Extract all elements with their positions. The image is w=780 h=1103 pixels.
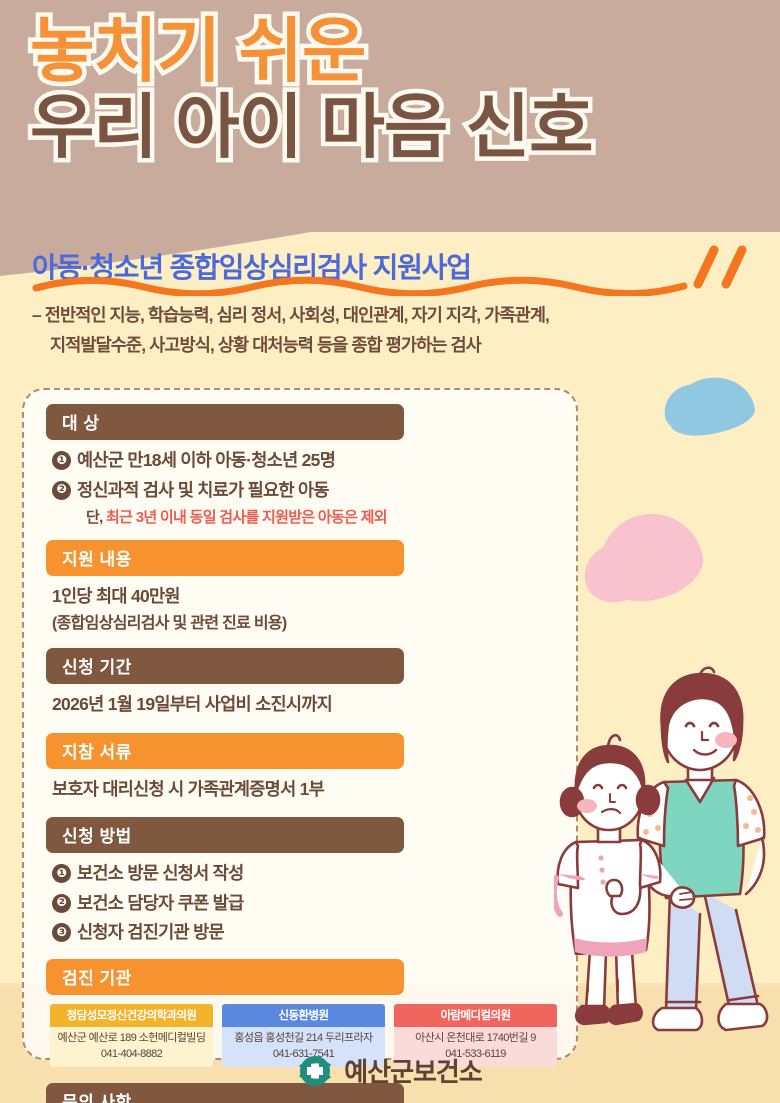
mother-and-child-illustration: [554, 662, 780, 1054]
bullet-number-1-icon: ❶: [52, 451, 71, 470]
target-note-prefix: 단,: [86, 509, 106, 526]
section-documents: 지참 서류 보호자 대리신청 시 가족관계증명서 1부: [46, 733, 558, 804]
support-line-2: (종합임상심리검사 및 관련 진료 비용): [52, 611, 558, 636]
section-method: 신청 방법 ❶ 보건소 방문 신청서 작성 ❷ 보건소 담당자 쿠폰 발급 ❸ …: [46, 817, 558, 947]
method-item-1: ❶ 보건소 방문 신청서 작성: [52, 860, 558, 888]
section-documents-title: 지참 서류: [46, 733, 404, 769]
method-item-3: ❸ 신청자 검진기관 방문: [52, 919, 558, 947]
section-support: 지원 내용 1인당 최대 40만원 (종합임상심리검사 및 관련 진료 비용): [46, 540, 558, 636]
section-target-title: 대 상: [46, 404, 404, 440]
institution-1-name: 청담성모정신건강의학과의원: [50, 1004, 213, 1027]
footer-org-name: 예산군보건소: [344, 1052, 482, 1089]
health-center-emblem-icon: [298, 1054, 332, 1088]
method-item-2: ❷ 보건소 담당자 쿠폰 발급: [52, 890, 558, 918]
institution-3-address: 아산시 온천대로 1740번길 9: [397, 1031, 554, 1047]
institution-2-name: 신동환병원: [222, 1004, 385, 1027]
headline-line-1: 놓치기 쉬운: [30, 16, 780, 86]
bullet-number-3-icon: ❸: [52, 923, 71, 942]
section-period: 신청 기간 2026년 1월 19일부터 사업비 소진시까지: [46, 648, 558, 719]
subtitle-block: 아동·청소년 종합임상심리검사 지원사업: [32, 246, 752, 286]
method-item-3-text: 신청자 검진기관 방문: [77, 919, 224, 947]
section-method-title: 신청 방법: [46, 817, 404, 853]
bullet-number-1-icon: ❶: [52, 864, 71, 883]
method-item-2-text: 보건소 담당자 쿠폰 발급: [77, 890, 244, 918]
description-line-1: – 전반적인 지능, 학습능력, 심리 정서, 사회성, 대인관계, 자기 지각…: [32, 305, 549, 325]
footer-logo-block: 예산군보건소: [0, 1052, 780, 1089]
section-institutions-title: 검진 기관: [46, 959, 404, 995]
target-item-1-text: 예산군 만18세 이하 아동·청소년 25명: [77, 447, 335, 475]
institution-1-address: 예산군 예산로 189 소헌메디컬빌딩: [53, 1031, 210, 1047]
method-item-1-text: 보건소 방문 신청서 작성: [77, 860, 244, 888]
bullet-number-2-icon: ❷: [52, 481, 71, 500]
section-target: 대 상 ❶ 예산군 만18세 이하 아동·청소년 25명 ❷ 정신과적 검사 및…: [46, 404, 558, 530]
institution-2-address: 홍성읍 홍성천길 214 두리프라자: [225, 1031, 382, 1047]
description-block: – 전반적인 지능, 학습능력, 심리 정서, 사회성, 대인관계, 자기 지각…: [32, 300, 748, 360]
target-item-2: ❷ 정신과적 검사 및 치료가 필요한 아동: [52, 477, 558, 505]
bullet-number-2-icon: ❷: [52, 894, 71, 913]
institution-3-name: 아람메디컬의원: [394, 1004, 557, 1027]
period-text: 2026년 1월 19일부터 사업비 소진시까지: [46, 691, 558, 719]
section-support-title: 지원 내용: [46, 540, 404, 576]
target-note: 단, 최근 3년 이내 동일 검사를 지원받은 아동은 제외: [52, 506, 558, 530]
info-card: 대 상 ❶ 예산군 만18세 이하 아동·청소년 25명 ❷ 정신과적 검사 및…: [22, 388, 578, 1060]
decorative-slashes-icon: [692, 242, 762, 290]
description-line-2: 지적발달수준, 사고방식, 상황 대처능력 등을 종합 평가하는 검사: [32, 330, 748, 360]
support-line-1: 1인당 최대 40만원: [52, 583, 558, 611]
target-item-2-text: 정신과적 검사 및 치료가 필요한 아동: [77, 477, 329, 505]
target-note-text: 최근 3년 이내 동일 검사를 지원받은 아동은 제외: [106, 509, 387, 526]
section-period-title: 신청 기간: [46, 648, 404, 684]
headline-block: 놓치기 쉬운 우리 아이 마음 신호: [0, 16, 780, 162]
wavy-underline-icon: [32, 276, 704, 296]
documents-text: 보호자 대리신청 시 가족관계증명서 1부: [46, 776, 558, 804]
target-item-1: ❶ 예산군 만18세 이하 아동·청소년 25명: [52, 447, 558, 475]
poster-canvas: 놓치기 쉬운 우리 아이 마음 신호 아동·청소년 종합임상심리검사 지원사업 …: [0, 0, 780, 1103]
headline-line-2: 우리 아이 마음 신호: [30, 92, 780, 162]
